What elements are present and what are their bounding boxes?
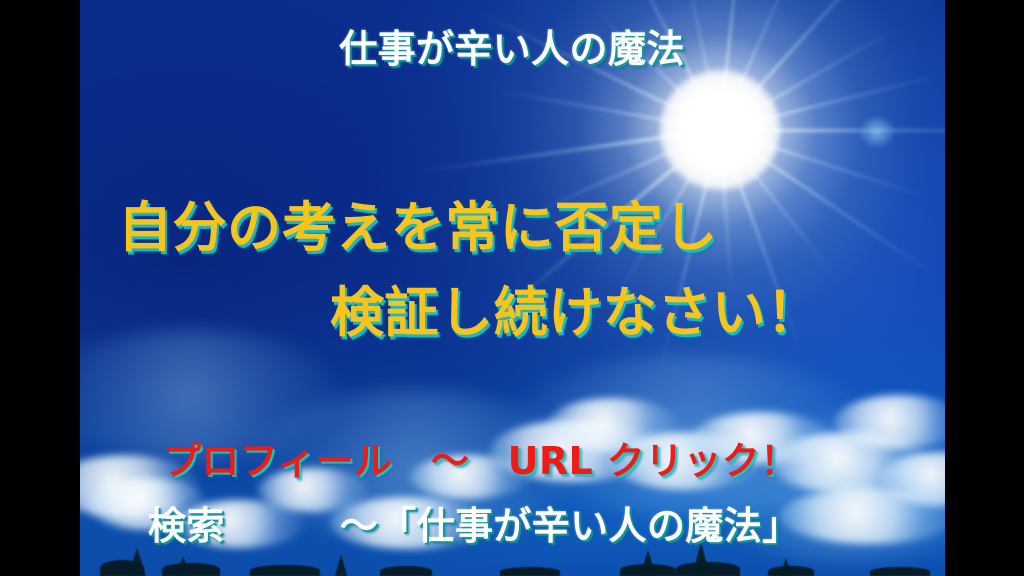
sun-core xyxy=(660,70,780,190)
tree-silhouette-icon xyxy=(620,564,676,576)
slide-title: 仕事が辛い人の魔法 xyxy=(0,18,1024,73)
tree-silhouette-icon xyxy=(335,554,347,576)
tree-silhouette-icon xyxy=(870,567,930,576)
tree-silhouette-icon xyxy=(380,566,432,576)
letterbox-bar-right xyxy=(945,0,1024,576)
lens-flare-icon xyxy=(860,118,894,146)
slide-canvas: 仕事が辛い人の魔法 自分の考えを常に否定し 検証し続けなさい！ プロフィール ～… xyxy=(0,0,1024,576)
tree-silhouette-icon xyxy=(100,560,144,576)
tree-silhouette-icon xyxy=(676,562,740,576)
tree-silhouette-icon xyxy=(500,567,560,576)
headline-line-1: 自分の考えを常に否定し xyxy=(118,183,718,262)
headline-line-2: 検証し続けなさい！ xyxy=(330,268,821,347)
tree-silhouette-icon xyxy=(250,565,320,576)
tree-silhouette-icon xyxy=(768,566,814,576)
cta-profile-line[interactable]: プロフィール ～ URL クリック！ xyxy=(163,430,799,485)
cta-search-line: 検索 ～「仕事が辛い人の魔法」 xyxy=(148,495,800,550)
tree-silhouette-icon xyxy=(162,563,220,576)
letterbox-bar-left xyxy=(0,0,80,576)
